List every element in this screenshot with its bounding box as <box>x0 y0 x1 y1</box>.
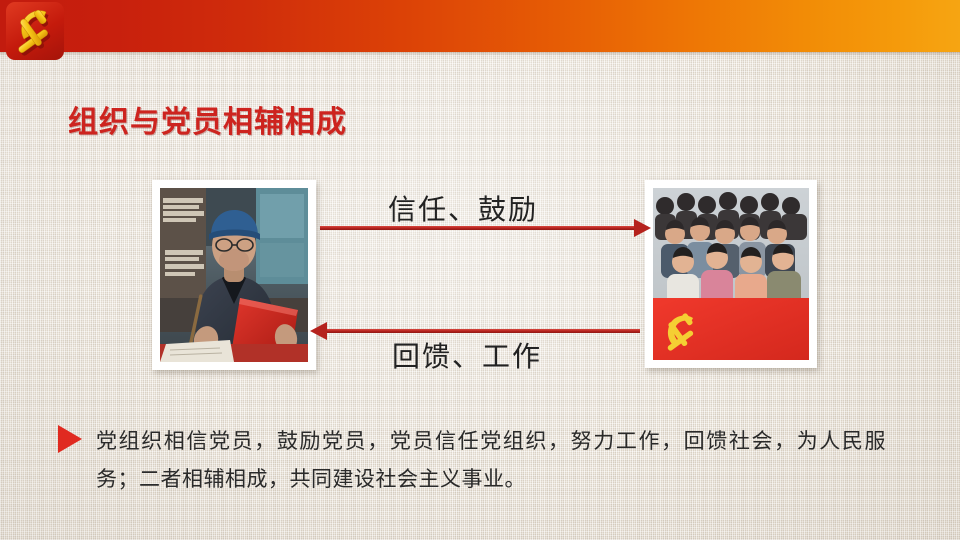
header-band-shadow <box>0 52 960 56</box>
photo-right-image <box>653 188 809 360</box>
photo-right-illustration <box>653 188 809 360</box>
header-band <box>0 0 960 52</box>
photo-party-members-group-with-flag <box>645 180 817 368</box>
hammer-sickle-glyph <box>6 2 64 60</box>
cpc-hammer-sickle-emblem <box>6 2 64 60</box>
arrow-feedback-work-label: 回馈、工作 <box>392 335 542 375</box>
triangle-bullet-icon <box>58 425 82 453</box>
arrow-feedback-work-head <box>310 322 327 340</box>
photo-left-illustration <box>160 188 308 362</box>
arrow-trust-encourage-head <box>634 219 651 237</box>
arrow-feedback-work-shaft <box>322 329 640 333</box>
photo-left-image <box>160 188 308 362</box>
arrow-trust-encourage-label: 信任、鼓励 <box>388 188 538 228</box>
presentation-slide: 组织与党员相辅相成 <box>0 0 960 540</box>
body-paragraph-block: 党组织相信党员，鼓励党员，党员信任党组织，努力工作，回馈社会，为人民服务；二者相… <box>58 422 918 498</box>
page-title: 组织与党员相辅相成 <box>68 97 347 141</box>
body-paragraph-text: 党组织相信党员，鼓励党员，党员信任党组织，努力工作，回馈社会，为人民服务；二者相… <box>96 422 886 498</box>
photo-elderly-party-member-reading <box>152 180 316 370</box>
